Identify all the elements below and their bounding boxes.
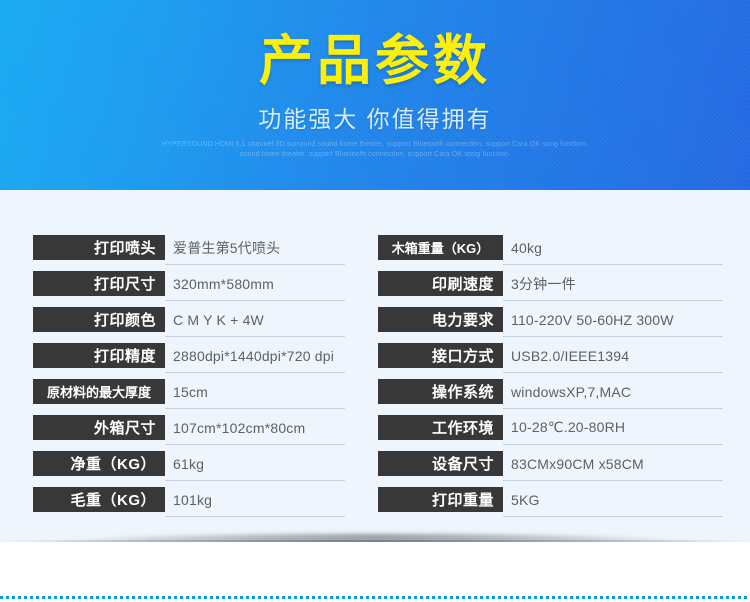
spec-row-underline bbox=[165, 300, 345, 301]
spec-value: 爱普生第5代喷头 bbox=[173, 235, 280, 260]
page-title: 产品参数 bbox=[0, 33, 750, 90]
spec-label: 木箱重量（KG） bbox=[378, 235, 503, 260]
spec-row: 电力要求110-220V 50-60HZ 300W bbox=[378, 307, 723, 343]
spec-row: 操作系统windowsXP,7,MAC bbox=[378, 379, 723, 415]
banner-caption-line-1: HYPERSOUND HDMI 5.1 channel 3D surround … bbox=[0, 140, 750, 151]
spec-value: 107cm*102cm*80cm bbox=[173, 415, 305, 440]
spec-row-underline bbox=[165, 480, 345, 481]
spec-row: 打印喷头爱普生第5代喷头 bbox=[33, 235, 345, 271]
spec-label: 接口方式 bbox=[378, 343, 503, 368]
spec-row: 外箱尺寸107cm*102cm*80cm bbox=[33, 415, 345, 451]
spec-value: 15cm bbox=[173, 379, 208, 404]
spec-row: 打印颜色C M Y K + 4W bbox=[33, 307, 345, 343]
spec-table-right-column: 木箱重量（KG）40kg印刷速度3分钟一件电力要求110-220V 50-60H… bbox=[378, 235, 723, 523]
spec-row-underline bbox=[503, 516, 723, 517]
spec-label: 打印精度 bbox=[33, 343, 165, 368]
footer-area bbox=[0, 542, 750, 602]
spec-value: 40kg bbox=[511, 235, 542, 260]
spec-row-underline bbox=[503, 264, 723, 265]
spec-row: 接口方式USB2.0/IEEE1394 bbox=[378, 343, 723, 379]
spec-row-underline bbox=[503, 372, 723, 373]
spec-row-underline bbox=[503, 444, 723, 445]
spec-row-underline bbox=[165, 516, 345, 517]
spec-value: 10-28℃.20-80RH bbox=[511, 415, 625, 440]
spec-row: 印刷速度3分钟一件 bbox=[378, 271, 723, 307]
page-subtitle: 功能强大 你值得拥有 bbox=[0, 100, 750, 134]
spec-row-underline bbox=[503, 480, 723, 481]
spec-value: 101kg bbox=[173, 487, 212, 512]
spec-row-underline bbox=[165, 264, 345, 265]
spec-label: 电力要求 bbox=[378, 307, 503, 332]
spec-value: 5KG bbox=[511, 487, 540, 512]
footer-dotted-rule bbox=[0, 596, 750, 599]
spec-value: C M Y K + 4W bbox=[173, 307, 264, 332]
spec-row: 木箱重量（KG）40kg bbox=[378, 235, 723, 271]
spec-row: 打印尺寸320mm*580mm bbox=[33, 271, 345, 307]
spec-label: 印刷速度 bbox=[378, 271, 503, 296]
spec-row: 毛重（KG）101kg bbox=[33, 487, 345, 523]
spec-value: 110-220V 50-60HZ 300W bbox=[511, 307, 674, 332]
spec-label: 打印尺寸 bbox=[33, 271, 165, 296]
spec-row-underline bbox=[503, 336, 723, 337]
spec-row: 打印精度2880dpi*1440dpi*720 dpi bbox=[33, 343, 345, 379]
spec-label: 原材料的最大厚度 bbox=[33, 379, 165, 404]
spec-row: 工作环境10-28℃.20-80RH bbox=[378, 415, 723, 451]
spec-label: 打印喷头 bbox=[33, 235, 165, 260]
spec-row-underline bbox=[165, 336, 345, 337]
spec-label: 工作环境 bbox=[378, 415, 503, 440]
spec-sheet: 打印喷头爱普生第5代喷头打印尺寸320mm*580mm打印颜色C M Y K +… bbox=[0, 190, 750, 542]
spec-row-underline bbox=[165, 444, 345, 445]
spec-row-underline bbox=[165, 372, 345, 373]
spec-label: 外箱尺寸 bbox=[33, 415, 165, 440]
spec-label: 打印颜色 bbox=[33, 307, 165, 332]
banner-caption-line-2: sound home theater, support Bluetooth co… bbox=[0, 150, 750, 161]
spec-row: 净重（KG）61kg bbox=[33, 451, 345, 487]
spec-label: 设备尺寸 bbox=[378, 451, 503, 476]
spec-value: 83CMx90CM x58CM bbox=[511, 451, 644, 476]
spec-value: USB2.0/IEEE1394 bbox=[511, 343, 629, 368]
spec-row: 原材料的最大厚度15cm bbox=[33, 379, 345, 415]
spec-label: 打印重量 bbox=[378, 487, 503, 512]
spec-row: 设备尺寸83CMx90CM x58CM bbox=[378, 451, 723, 487]
spec-row-underline bbox=[165, 408, 345, 409]
spec-value: 61kg bbox=[173, 451, 204, 476]
spec-value: 2880dpi*1440dpi*720 dpi bbox=[173, 343, 334, 368]
spec-row-underline bbox=[503, 408, 723, 409]
page-header-banner: 产品参数 功能强大 你值得拥有 HYPERSOUND HDMI 5.1 chan… bbox=[0, 0, 750, 190]
spec-value: 3分钟一件 bbox=[511, 271, 576, 296]
spec-table-left-column: 打印喷头爱普生第5代喷头打印尺寸320mm*580mm打印颜色C M Y K +… bbox=[33, 235, 345, 523]
spec-row: 打印重量5KG bbox=[378, 487, 723, 523]
spec-value: windowsXP,7,MAC bbox=[511, 379, 631, 404]
spec-label: 净重（KG） bbox=[33, 451, 165, 476]
spec-label: 操作系统 bbox=[378, 379, 503, 404]
spec-value: 320mm*580mm bbox=[173, 271, 274, 296]
spec-label: 毛重（KG） bbox=[33, 487, 165, 512]
spec-row-underline bbox=[503, 300, 723, 301]
